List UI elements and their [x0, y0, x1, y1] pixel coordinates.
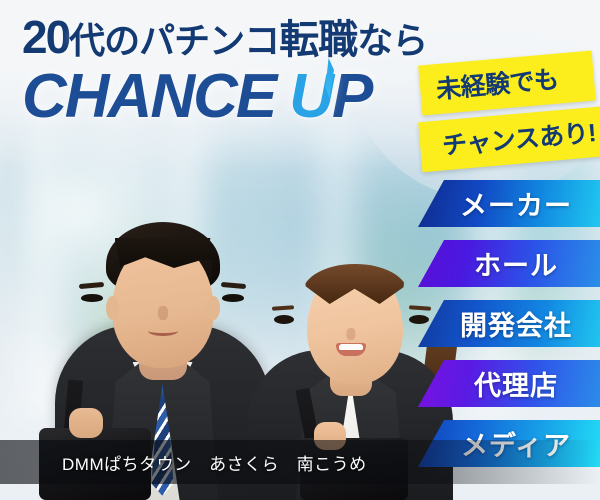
businesswoman-nose: [346, 328, 355, 340]
caption-credits: DMMぱちタウン あさくら 南こうめ: [0, 450, 367, 475]
businesswoman-teeth: [339, 344, 363, 350]
callout-no-experience: 未経験でも: [418, 51, 596, 116]
logo-word-up: UP: [289, 66, 371, 128]
category-button-list: メーカー ホール 開発会社 代理店 メディア: [418, 180, 600, 467]
businessman-ear-left: [106, 296, 119, 320]
businessman-eyebrow-right: [221, 282, 246, 289]
businessman-nose: [158, 306, 168, 320]
businessman-eye-right: [222, 294, 244, 302]
businessman-eyebrow-left: [79, 282, 104, 289]
chance-up-logo: CHANCE UP: [22, 66, 427, 128]
callout-group: 未経験でも チャンスあり!: [420, 58, 600, 164]
headline-line-1-suffix: なら: [357, 20, 427, 61]
headline-block: 20代のパチンコ転職なら CHANCE UP: [22, 14, 427, 128]
category-button-agency[interactable]: 代理店: [418, 360, 600, 407]
category-button-hall[interactable]: ホール: [418, 240, 600, 287]
category-label-hall: ホール: [460, 244, 558, 283]
category-label-developer: 開発会社: [446, 304, 572, 343]
category-label-maker: メーカー: [446, 184, 572, 223]
headline-line-1-rest: 代のパチンコ: [69, 20, 279, 61]
businessman-mouth: [148, 326, 178, 336]
businessman-eye-left: [81, 294, 103, 302]
logo-word-chance: CHANCE: [22, 66, 275, 128]
callout-chance-available: チャンスあり!: [418, 106, 600, 172]
category-button-maker[interactable]: メーカー: [418, 180, 600, 227]
businessman-ear-right: [207, 296, 220, 320]
headline-line-1: 20代のパチンコ転職なら: [22, 14, 427, 60]
headline-age-number: 20: [22, 11, 69, 63]
category-label-agency: 代理店: [460, 364, 558, 403]
businesswoman-eye-left: [274, 315, 294, 324]
logo-letter-p: P: [332, 62, 371, 131]
recruitment-banner[interactable]: 20代のパチンコ転職なら CHANCE UP 未経験でも チャンスあり! メーカ…: [0, 0, 600, 500]
businessman-hand: [69, 408, 103, 438]
businesswoman-eyebrow-left: [272, 305, 294, 311]
headline-line-1-keyword: 転職: [279, 18, 357, 62]
logo-letter-u-arrow-icon: U: [289, 62, 332, 131]
caption-band: DMMぱちタウン あさくら 南こうめ: [0, 440, 600, 484]
category-button-developer[interactable]: 開発会社: [418, 300, 600, 347]
